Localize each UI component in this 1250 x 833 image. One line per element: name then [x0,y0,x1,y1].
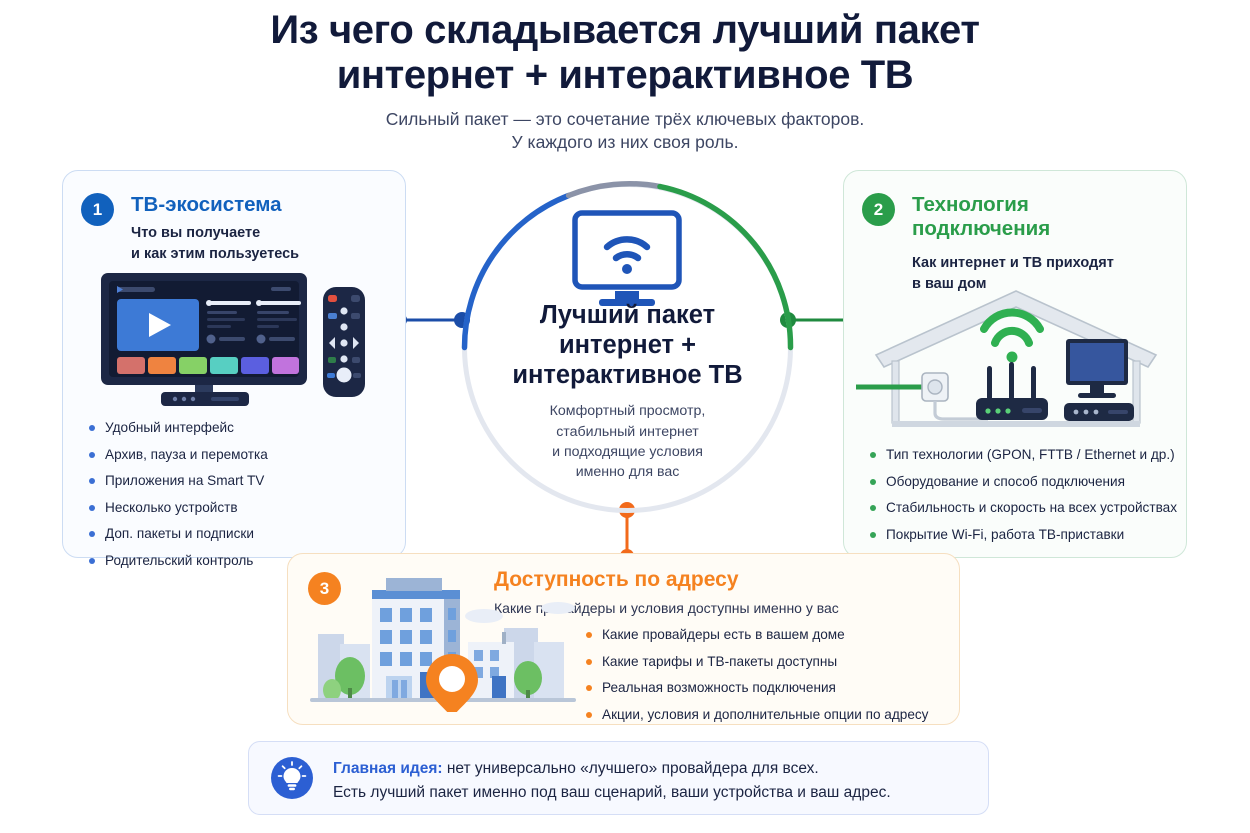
center-title: Лучший пакет интернет + интерактивное ТВ [455,301,800,390]
page-title-line-2: интернет + интерактивное ТВ [337,53,914,97]
card1-number-badge: 1 [81,193,114,226]
center-title-line-2: интернет + [559,331,696,359]
key-idea-text: Главная идея: нет универсально «лучшего»… [333,757,891,805]
card-address-availability[interactable]: 3 Доступность по адресу Какие провайдеры… [287,553,960,725]
card2-title-line-1: Технология [912,193,1029,216]
center-desc-line-1: Комфортный просмотр, [550,403,706,419]
key-idea-rest: нет универсально «лучшего» провайдера дл… [443,760,819,777]
list-item: Акции, условия и дополнительные опции по… [584,708,928,722]
card2-subtitle-line-1: Как интернет и ТВ приходят [912,255,1114,271]
list-item: Приложения на Smart TV [87,474,268,488]
page-title: Из чего складывается лучший пакет интерн… [0,8,1250,98]
center-hub: Лучший пакет интернет + интерактивное ТВ… [455,175,800,520]
tv-wifi-icon [575,213,679,306]
card-tv-ecosystem[interactable]: 1 ТВ-экосистема Что вы получаете и как э… [62,170,406,558]
card1-title: ТВ-экосистема [131,193,282,217]
list-item: Стабильность и скорость на всех устройст… [868,501,1177,515]
center-desc-line-4: именно для вас [576,464,680,480]
page-title-line-1: Из чего складывается лучший пакет [270,8,979,52]
city-buildings-with-map-pin-illustration [306,572,584,712]
page-subtitle-line-2: У каждого из них своя роль. [512,132,739,152]
infographic-root: Из чего складывается лучший пакет интерн… [0,0,1250,833]
center-description: Комфортный просмотр, стабильный интернет… [455,401,800,482]
list-item: Реальная возможность подключения [584,681,928,695]
card2-number-badge: 2 [862,193,895,226]
wifi-icon [984,312,1040,362]
center-title-line-3: интерактивное ТВ [512,361,742,389]
list-item: Несколько устройств [87,501,268,515]
card1-subtitle-line-2: и как этим пользуетесь [131,246,299,262]
key-idea-callout: Главная идея: нет универсально «лучшего»… [248,741,989,815]
center-desc-line-2: стабильный интернет [556,424,699,440]
list-item: Оборудование и способ подключения [868,475,1177,489]
list-item: Покрытие Wi-Fi, работа ТВ-приставки [868,528,1177,542]
center-title-line-1: Лучший пакет [540,301,715,329]
list-item: Удобный интерфейс [87,421,268,435]
list-item: Родительский контроль [87,554,268,568]
card1-bullet-list: Удобный интерфейс Архив, пауза и перемот… [87,421,268,581]
card2-bullet-list: Тип технологии (GPON, FTTB / Ethernet и … [868,448,1177,554]
page-header: Из чего складывается лучший пакет интерн… [0,8,1250,154]
list-item: Архив, пауза и перемотка [87,448,268,462]
card2-title-line-2: подключения [912,217,1050,240]
key-idea-line-2: Есть лучший пакет именно под ваш сценари… [333,784,891,801]
list-item: Доп. пакеты и подписки [87,527,268,541]
key-idea-lead: Главная идея: [333,760,443,777]
lightbulb-icon [271,757,313,799]
center-desc-line-3: и подходящие условия [552,444,703,460]
card-connection-technology[interactable]: 2 Технология подключения Как интернет и … [843,170,1187,558]
card1-subtitle: Что вы получаете и как этим пользуетесь [131,223,299,265]
house-with-router-illustration [856,283,1178,433]
list-item: Какие тарифы и ТВ-пакеты доступны [584,655,928,669]
card1-subtitle-line-1: Что вы получаете [131,225,260,241]
list-item: Тип технологии (GPON, FTTB / Ethernet и … [868,448,1177,462]
center-text-block: Лучший пакет интернет + интерактивное ТВ… [455,301,800,482]
card2-title: Технология подключения [912,193,1102,241]
smart-tv-with-remote-illustration [99,271,371,406]
card3-bullet-list: Какие провайдеры есть в вашем доме Какие… [584,628,928,734]
page-subtitle: Сильный пакет — это сочетание трёх ключе… [0,108,1250,155]
page-subtitle-line-1: Сильный пакет — это сочетание трёх ключе… [386,109,865,129]
list-item: Какие провайдеры есть в вашем доме [584,628,928,642]
